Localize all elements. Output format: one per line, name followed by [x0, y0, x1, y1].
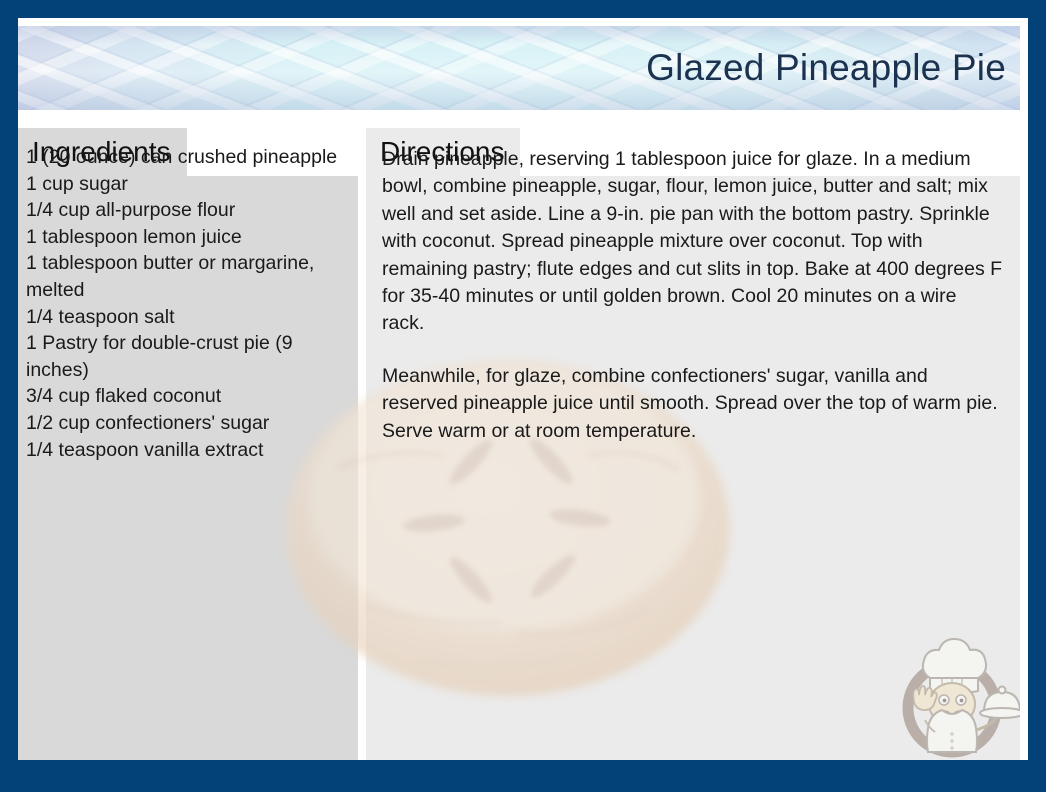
recipe-card: Glazed Pineapple Pie Ingredients 1 (20 o…	[0, 0, 1046, 792]
content-panels: Ingredients 1 (20 ounce) can crushed pin…	[18, 118, 1028, 760]
directions-panel: Directions Drain pineapple, reserving 1 …	[366, 118, 1020, 760]
ingredient-item: 1 Pastry for double-crust pie (9 inches)	[26, 330, 352, 383]
ingredients-panel: Ingredients 1 (20 ounce) can crushed pin…	[18, 118, 358, 760]
direction-paragraph: Drain pineapple, reserving 1 tablespoon …	[382, 146, 1004, 338]
directions-text: Drain pineapple, reserving 1 tablespoon …	[382, 146, 1004, 445]
title-banner: Glazed Pineapple Pie	[18, 26, 1020, 110]
ingredient-item: 1/4 teaspoon vanilla extract	[26, 437, 352, 464]
ingredient-item: 1 (20 ounce) can crushed pineapple	[26, 144, 352, 171]
direction-paragraph: Meanwhile, for glaze, combine confection…	[382, 363, 1004, 445]
ingredient-item: 1/2 cup confectioners' sugar	[26, 410, 352, 437]
ingredient-item: 1 tablespoon butter or margarine, melted	[26, 250, 352, 303]
page-title: Glazed Pineapple Pie	[646, 47, 1006, 89]
ingredients-list: 1 (20 ounce) can crushed pineapple1 cup …	[26, 144, 352, 463]
ingredient-item: 1 cup sugar	[26, 171, 352, 198]
ingredient-item: 1/4 cup all-purpose flour	[26, 197, 352, 224]
ingredient-item: 3/4 cup flaked coconut	[26, 383, 352, 410]
ingredient-item: 1 tablespoon lemon juice	[26, 224, 352, 251]
slide-canvas: Glazed Pineapple Pie Ingredients 1 (20 o…	[18, 18, 1028, 760]
ingredient-item: 1/4 teaspoon salt	[26, 304, 352, 331]
